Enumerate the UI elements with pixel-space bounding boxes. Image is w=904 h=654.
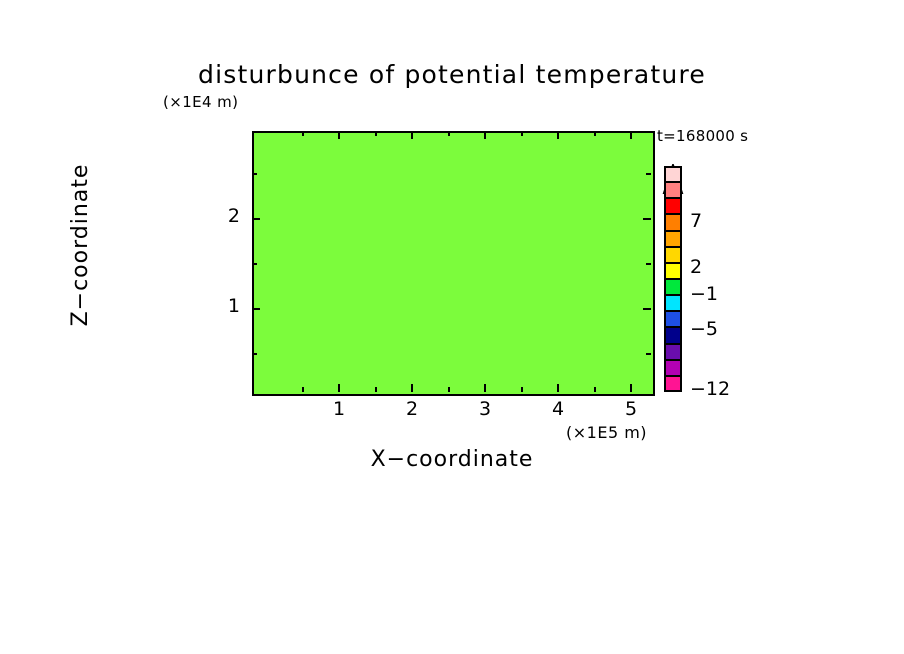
- axis-tick: [630, 131, 632, 139]
- x-tick-label: 1: [324, 398, 354, 420]
- chart-title: disturbunce of potential temperature: [0, 60, 904, 89]
- colorbar-band: [664, 263, 682, 279]
- colorbar-band: [664, 214, 682, 230]
- axis-tick: [594, 131, 596, 136]
- axis-tick: [646, 173, 651, 175]
- x-axis-title: X−coordinate: [0, 447, 904, 472]
- timestamp-annotation: t=168000 s: [657, 127, 748, 145]
- axis-tick: [630, 384, 632, 392]
- colorbar-band-divider: [664, 375, 682, 377]
- colorbar-band: [664, 279, 682, 295]
- axis-tick: [484, 131, 486, 139]
- colorbar-band: [664, 295, 682, 311]
- colorbar-band: [664, 231, 682, 247]
- axis-tick: [252, 218, 260, 220]
- axis-tick: [375, 131, 377, 136]
- contour-field-canvas: [254, 133, 653, 394]
- axis-tick: [521, 387, 523, 392]
- colorbar-band: [664, 182, 682, 198]
- axis-tick: [252, 173, 257, 175]
- axis-tick: [646, 353, 651, 355]
- axis-tick: [252, 353, 257, 355]
- x-tick-label: 3: [470, 398, 500, 420]
- axis-tick: [411, 131, 413, 139]
- colorbar-band: [664, 327, 682, 343]
- colorbar-tick-label: 7: [690, 210, 702, 232]
- axis-tick: [302, 387, 304, 392]
- axis-tick: [594, 387, 596, 392]
- x-axis-unit-label: (×1E5 m): [566, 423, 647, 442]
- colorbar-tick-label: −5: [690, 318, 718, 340]
- colorbar-tick-label: −1: [690, 283, 718, 305]
- axis-tick: [646, 263, 651, 265]
- axis-tick: [448, 387, 450, 392]
- colorbar-band-divider: [664, 213, 682, 215]
- axis-tick: [521, 131, 523, 136]
- x-tick-label: 5: [616, 398, 646, 420]
- colorbar-band-divider: [664, 359, 682, 361]
- colorbar-band-divider: [664, 278, 682, 280]
- colorbar-band: [664, 376, 682, 392]
- colorbar-band-divider: [664, 343, 682, 345]
- colorbar-band: [664, 198, 682, 214]
- x-tick-label: 2: [397, 398, 427, 420]
- axis-tick: [643, 308, 651, 310]
- axis-tick: [375, 387, 377, 392]
- colorbar-band: [664, 311, 682, 327]
- axis-tick: [557, 384, 559, 392]
- colorbar-band-divider: [664, 262, 682, 264]
- colorbar-band-divider: [664, 181, 682, 183]
- y-tick-label: 2: [210, 205, 240, 227]
- axis-tick: [302, 131, 304, 136]
- y-tick-label: 1: [210, 295, 240, 317]
- y-axis-unit-label: (×1E4 m): [163, 93, 238, 111]
- x-tick-label: 4: [543, 398, 573, 420]
- colorbar-band: [664, 166, 682, 182]
- colorbar-band-divider: [664, 326, 682, 328]
- figure-root: disturbunce of potential temperature (×1…: [0, 0, 904, 654]
- colorbar-band-divider: [664, 230, 682, 232]
- axis-tick: [643, 218, 651, 220]
- axis-tick: [484, 384, 486, 392]
- axis-tick: [411, 384, 413, 392]
- axis-tick: [338, 131, 340, 139]
- colorbar-tick-label: 2: [690, 256, 702, 278]
- contour-plot-area: [252, 131, 655, 396]
- colorbar-band-divider: [664, 294, 682, 296]
- colorbar-band: [664, 360, 682, 376]
- axis-tick: [252, 308, 260, 310]
- colorbar: [664, 166, 682, 392]
- colorbar-band-divider: [664, 310, 682, 312]
- colorbar-band-divider: [664, 197, 682, 199]
- colorbar-band-divider: [664, 246, 682, 248]
- y-axis-title: Z−coordinate: [68, 145, 98, 345]
- colorbar-tick-label: −12: [690, 378, 730, 400]
- axis-tick: [448, 131, 450, 136]
- colorbar-band: [664, 344, 682, 360]
- axis-tick: [252, 263, 257, 265]
- colorbar-band: [664, 247, 682, 263]
- axis-tick: [557, 131, 559, 139]
- axis-tick: [338, 384, 340, 392]
